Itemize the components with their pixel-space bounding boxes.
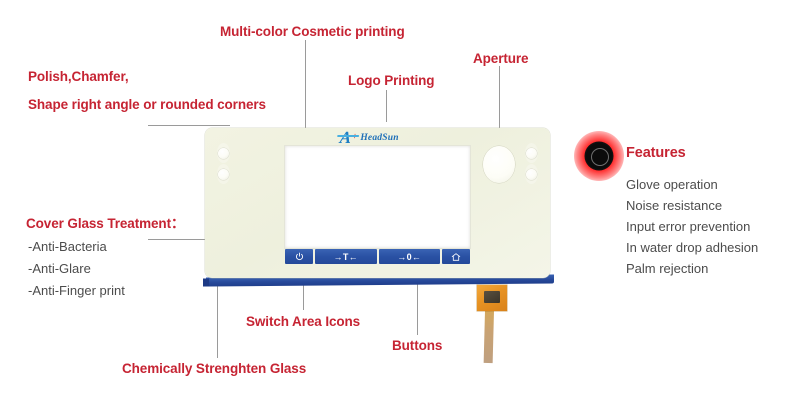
logo-plus-icon: + xyxy=(351,128,358,145)
power-button[interactable] xyxy=(285,249,313,264)
mounting-hole-right-top xyxy=(526,148,537,159)
label-polish-line1: Polish,Chamfer, xyxy=(28,68,129,85)
feature-item-water-drop-adhesion: In water drop adhesion xyxy=(626,238,758,258)
label-polish-line2: Shape right angle or rounded corners xyxy=(28,96,266,113)
feature-item-input-error-prevention: Input error prevention xyxy=(626,217,750,237)
label-aperture: Aperture xyxy=(473,50,528,67)
leader-line-logo xyxy=(386,90,387,122)
controller-ic-chip xyxy=(484,291,500,303)
label-anti-finger-print: -Anti-Finger print xyxy=(28,281,125,301)
tare-button[interactable]: →T← xyxy=(315,249,377,264)
tare-icon: →T← xyxy=(334,252,358,262)
label-switch-area-icons: Switch Area Icons xyxy=(246,313,360,330)
label-chemically-strengthen-glass: Chemically Strenghten Glass xyxy=(122,360,306,377)
fpc-ribbon-tail xyxy=(484,311,494,363)
switch-area: →T← →0← xyxy=(285,249,470,264)
aperture-hole xyxy=(483,146,515,183)
mounting-hole-left-bottom xyxy=(218,169,229,180)
fpc-connector xyxy=(477,285,507,311)
illustration-canvas: A+ HeadSun →T← xyxy=(0,0,800,400)
leader-line-multi-color xyxy=(305,40,306,132)
label-buttons: Buttons xyxy=(392,337,442,354)
home-icon xyxy=(451,252,461,262)
label-multi-color-printing: Multi-color Cosmetic printing xyxy=(220,23,405,40)
power-icon xyxy=(295,252,304,261)
label-logo-printing: Logo Printing xyxy=(348,72,434,89)
mounting-hole-left-top xyxy=(218,148,229,159)
logo-letter-a: A+ xyxy=(339,129,352,146)
mounting-hole-right-bottom xyxy=(526,169,537,180)
features-bullet-icon xyxy=(574,131,624,181)
zero-button[interactable]: →0← xyxy=(379,249,441,264)
feature-item-palm-rejection: Palm rejection xyxy=(626,259,708,279)
brand-logo: A+ HeadSun xyxy=(340,129,430,146)
logo-wordmark: HeadSun xyxy=(360,133,398,143)
touch-panel[interactable]: A+ HeadSun →T← xyxy=(205,128,550,278)
features-title: Features xyxy=(626,145,686,162)
label-cover-glass-treatment: Cover Glass Treatment： xyxy=(26,215,184,232)
label-anti-bacteria: -Anti-Bacteria xyxy=(28,237,107,257)
display-viewing-area[interactable] xyxy=(285,146,470,248)
home-button[interactable] xyxy=(442,249,470,264)
bullet-inner-ring xyxy=(591,148,609,166)
leader-line-polish xyxy=(148,125,230,126)
feature-item-glove-operation: Glove operation xyxy=(626,175,718,195)
feature-item-noise-resistance: Noise resistance xyxy=(626,196,722,216)
zero-icon: →0← xyxy=(397,252,421,262)
label-anti-glare: -Anti-Glare xyxy=(28,259,91,279)
